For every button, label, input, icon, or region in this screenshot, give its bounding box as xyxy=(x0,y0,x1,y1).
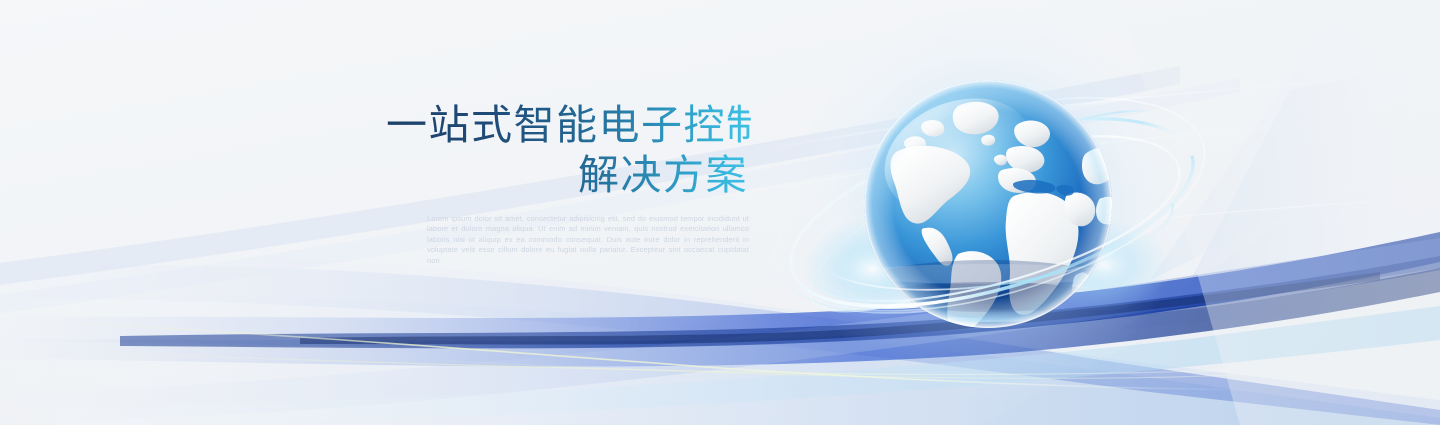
hero-banner: 一站式智能电子控制 解决方案 Lorem ipsum dolor sit ame… xyxy=(0,0,1440,425)
hero-lede-paragraph: Lorem ipsum dolor sit amet, consectetur … xyxy=(427,214,749,266)
globe-sphere xyxy=(862,78,1114,330)
globe-graphic xyxy=(862,78,1114,330)
headline-line-2: 解决方案 xyxy=(386,150,752,200)
headline-line-1: 一站式智能电子控制 xyxy=(386,100,752,150)
hero-text-block: 一站式智能电子控制 解决方案 Lorem ipsum dolor sit ame… xyxy=(386,100,752,266)
